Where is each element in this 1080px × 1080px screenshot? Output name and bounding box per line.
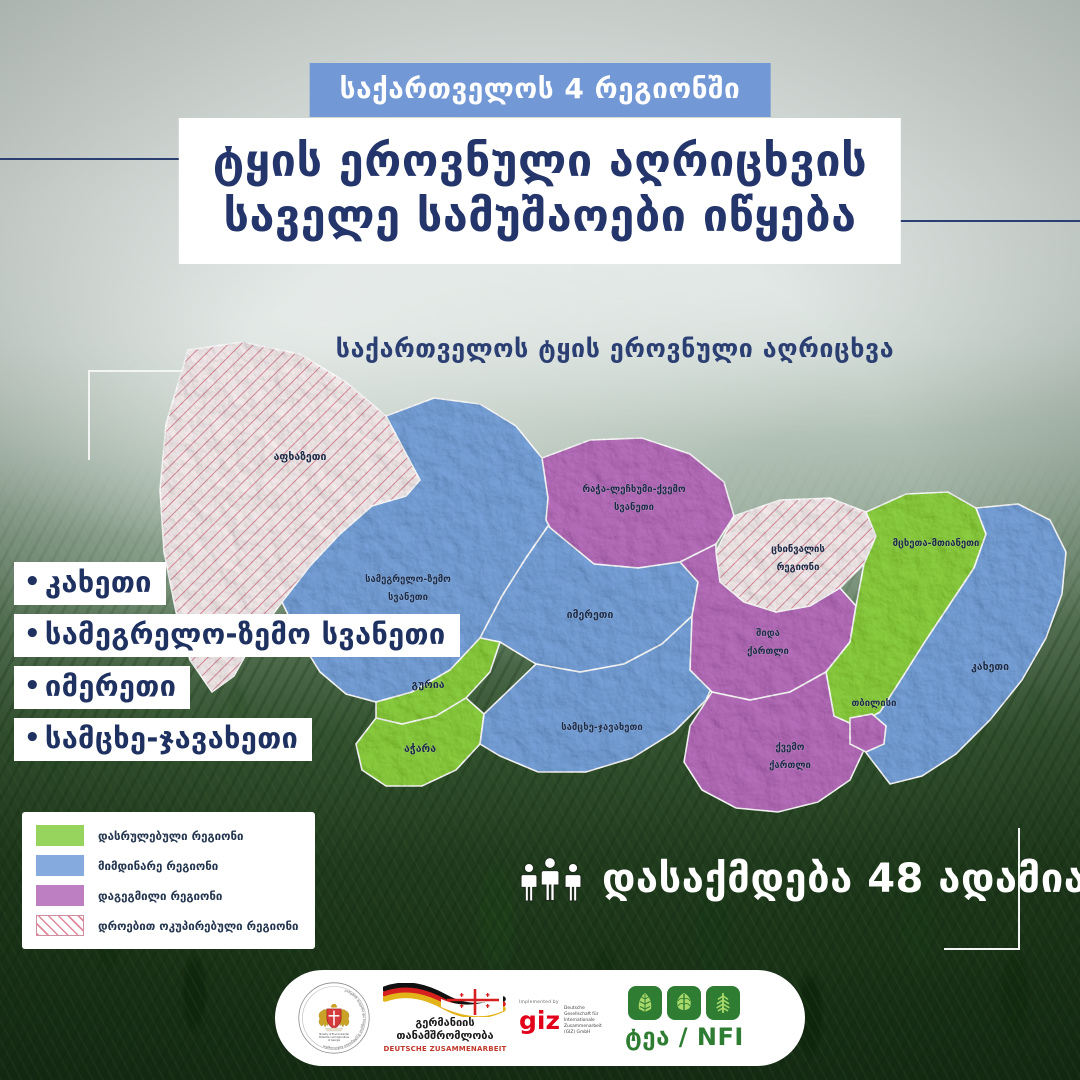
leaf-icon-3 bbox=[706, 986, 740, 1020]
bullet-dot-icon: • bbox=[24, 671, 41, 701]
leaf-icon-2 bbox=[667, 986, 701, 1020]
map-label-tbilisi: თბილისი bbox=[852, 698, 897, 709]
nfi-wordmark: ტეა / NFI bbox=[625, 1023, 744, 1051]
legend-item-occupied: დროებით ოკუპირებული რეგიონი bbox=[36, 915, 299, 936]
list-item: •სამცხე-ჯავახეთი bbox=[14, 718, 312, 761]
leaf-icon-1 bbox=[628, 986, 662, 1020]
svg-text:of Georgia: of Georgia bbox=[328, 1039, 341, 1042]
region-bullet-list: •კახეთი •სამეგრელო-ზემო სვანეთი •იმერეთი… bbox=[14, 562, 460, 770]
map-label-kvemo-kartli-l1: ქვემო bbox=[775, 742, 804, 753]
footer-logo-bar: გარემოს დაცვისა და სოფლის მეურნეობის სამ… bbox=[275, 970, 805, 1066]
legend-item-ongoing: მიმდინარე რეგიონი bbox=[36, 855, 299, 876]
german-georgian-flag-ribbon-icon bbox=[383, 983, 507, 1017]
bullet-dot-icon: • bbox=[24, 567, 41, 597]
map-label-imereti: იმერეთი bbox=[567, 609, 614, 621]
list-item: •იმერეთი bbox=[14, 666, 190, 709]
list-item: •სამეგრელო-ზემო სვანეთი bbox=[14, 614, 460, 657]
ministry-emblem-icon: გარემოს დაცვისა და სოფლის მეურნეობის სამ… bbox=[297, 981, 371, 1055]
german-cooperation-line-3: DEUTSCHE ZUSAMMENARBEIT bbox=[383, 1045, 506, 1053]
map-label-shida-kartli-l1: შიდა bbox=[756, 628, 780, 639]
map-region-tskhinvali bbox=[716, 498, 876, 612]
giz-logo: Implemented by giz Deutsche Gesellschaft… bbox=[519, 1000, 611, 1036]
list-item-label: კახეთი bbox=[45, 565, 152, 599]
list-item-label: სამეგრელო-ზემო სვანეთი bbox=[45, 617, 446, 651]
map-label-racha-lechkhumi-l1: რაჭა-ლეჩხუმი-ქვემო bbox=[582, 484, 686, 495]
map-label-shida-kartli-l2: ქართლი bbox=[747, 646, 789, 657]
header: საქართველოს 4 რეგიონში ტყის ეროვნული აღრ… bbox=[0, 0, 1080, 290]
three-people-icon bbox=[518, 855, 584, 903]
legend-item-finished: დასრულებული რეგიონი bbox=[36, 825, 299, 846]
german-cooperation-line-2: თანამშრომლობა bbox=[396, 1030, 493, 1043]
page-title-line-1: ტყის ეროვნული აღრიცხვის bbox=[213, 134, 867, 189]
legend-swatch-finished bbox=[36, 825, 84, 846]
legend-swatch-planned bbox=[36, 885, 84, 906]
legend-swatch-ongoing bbox=[36, 855, 84, 876]
giz-subtitle: Deutsche Gesellschaft für Internationale… bbox=[564, 1006, 611, 1036]
legend-swatch-occupied bbox=[36, 915, 84, 936]
map-label-tskhinvali-l1: ცხინვალის bbox=[771, 544, 825, 555]
legend-label-finished: დასრულებული რეგიონი bbox=[98, 829, 243, 843]
employment-stat: დასაქმდება 48 ადამიანი bbox=[518, 855, 1080, 903]
map-label-abkhazia: აფხაზეთი bbox=[274, 451, 327, 463]
page-title-line-2: საველე სამუშაოები იწყება bbox=[213, 189, 867, 244]
map-label-tskhinvali-l2: რეგიონი bbox=[777, 562, 820, 573]
map-label-racha-lechkhumi-l2: სვანეთი bbox=[614, 502, 654, 513]
legend-label-occupied: დროებით ოკუპირებული რეგიონი bbox=[98, 919, 299, 933]
page-title: ტყის ეროვნული აღრიცხვის საველე სამუშაოებ… bbox=[179, 118, 901, 264]
nfi-logo: ტეა / NFI bbox=[625, 986, 744, 1051]
map-label-mtskheta-mtianeti: მცხეთა-მთიანეთი bbox=[893, 538, 980, 549]
list-item-label: სამცხე-ჯავახეთი bbox=[45, 721, 298, 755]
giz-wordmark: giz bbox=[519, 1010, 560, 1033]
map-label-kvemo-kartli-l2: ქართლი bbox=[769, 760, 811, 771]
list-item: •კახეთი bbox=[14, 562, 166, 605]
bullet-dot-icon: • bbox=[24, 619, 41, 649]
legend-label-ongoing: მიმდინარე რეგიონი bbox=[98, 859, 218, 873]
bullet-dot-icon: • bbox=[24, 723, 41, 753]
map-label-kakheti: კახეთი bbox=[971, 661, 1009, 673]
german-cooperation-logo: გერმანიის თანამშრომლობა DEUTSCHE ZUSAMME… bbox=[381, 983, 509, 1052]
giz-implemented-by-label: Implemented by bbox=[519, 1000, 611, 1005]
header-badge: საქართველოს 4 რეგიონში bbox=[310, 63, 771, 117]
employment-stat-text: დასაქმდება 48 ადამიანი bbox=[602, 856, 1080, 902]
legend-label-planned: დაგეგმილი რეგიონი bbox=[98, 889, 222, 903]
map-label-samtskhe-javakheti: სამცხე-ჯავახეთი bbox=[561, 722, 642, 733]
map-legend: დასრულებული რეგიონი მიმდინარე რეგიონი და… bbox=[22, 812, 315, 949]
list-item-label: იმერეთი bbox=[45, 669, 176, 703]
legend-item-planned: დაგეგმილი რეგიონი bbox=[36, 885, 299, 906]
